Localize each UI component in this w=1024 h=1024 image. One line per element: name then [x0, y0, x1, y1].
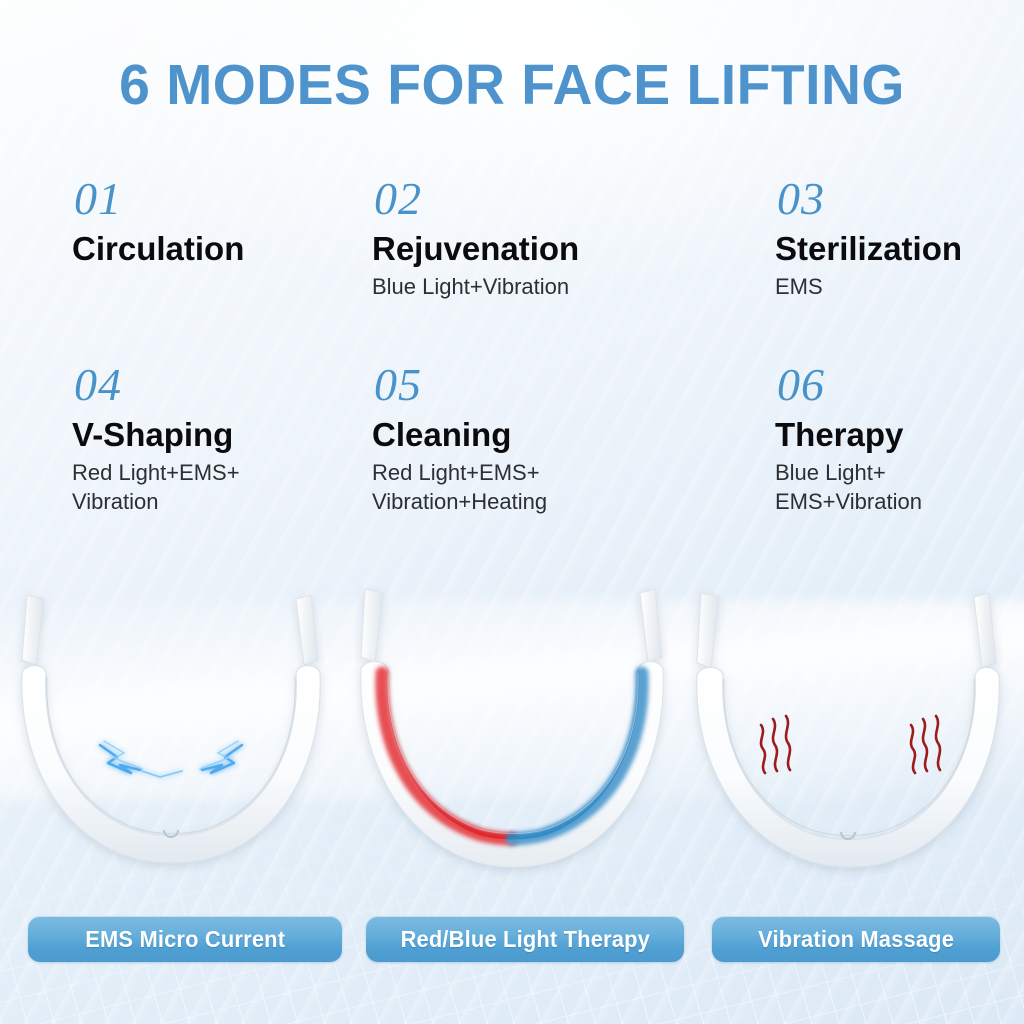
pill-red-blue-light-therapy[interactable]: Red/Blue Light Therapy	[366, 916, 684, 962]
modes-grid: 01 Circulation 02 Rejuvenation Blue Ligh…	[0, 176, 1024, 548]
mode-item-02: 02 Rejuvenation Blue Light+Vibration	[372, 176, 579, 301]
mode-subtitle-line: Blue Light+	[775, 458, 922, 487]
device-vibration-massage	[683, 585, 1024, 905]
mode-item-01: 01 Circulation	[72, 176, 244, 272]
mode-item-05: 05 Cleaning Red Light+EMS+ Vibration+Hea…	[372, 362, 547, 516]
mode-subtitle: EMS	[775, 272, 962, 301]
mode-subtitle: Blue Light+ EMS+Vibration	[775, 458, 922, 516]
pill-label: Vibration Massage	[758, 926, 954, 953]
mode-title: Sterilization	[775, 230, 962, 267]
blue-arc-effect	[100, 741, 242, 777]
mode-title: Therapy	[775, 416, 922, 453]
feature-pills: EMS Micro Current Red/Blue Light Therapy…	[0, 916, 1024, 966]
mode-number: 05	[374, 362, 547, 408]
infographic-page: 6 MODES FOR FACE LIFTING 01 Circulation …	[0, 0, 1024, 1024]
mode-subtitle-line: Red Light+EMS+	[372, 458, 547, 487]
mode-number: 03	[777, 176, 962, 222]
device-red-blue-light-therapy	[341, 585, 682, 905]
mode-item-04: 04 V-Shaping Red Light+EMS+ Vibration	[72, 362, 240, 516]
mode-title: V-Shaping	[72, 416, 240, 453]
mode-item-06: 06 Therapy Blue Light+ EMS+Vibration	[775, 362, 922, 516]
pill-vibration-massage[interactable]: Vibration Massage	[712, 916, 1000, 962]
mode-item-03: 03 Sterilization EMS	[775, 176, 962, 301]
vibration-wave-right	[911, 716, 940, 773]
red-light-strip	[382, 673, 512, 839]
pill-ems-micro-current[interactable]: EMS Micro Current	[28, 916, 342, 962]
mode-subtitle-line: Red Light+EMS+	[72, 458, 240, 487]
mode-subtitle: Red Light+EMS+ Vibration+Heating	[372, 458, 547, 516]
pill-label: EMS Micro Current	[85, 926, 285, 953]
mode-subtitle-line: Vibration	[72, 487, 240, 516]
pill-label: Red/Blue Light Therapy	[400, 926, 649, 953]
mode-number: 06	[777, 362, 922, 408]
mode-subtitle-line: Blue Light+Vibration	[372, 272, 579, 301]
mode-number: 02	[374, 176, 579, 222]
mode-title: Circulation	[72, 230, 244, 267]
page-title: 6 MODES FOR FACE LIFTING	[15, 52, 1008, 118]
mode-number: 04	[74, 362, 240, 408]
mode-subtitle-line: EMS	[775, 272, 962, 301]
device-images	[0, 585, 1024, 905]
vibration-wave-left	[761, 716, 790, 773]
mode-subtitle-line: Vibration+Heating	[372, 487, 547, 516]
modes-row-1: 01 Circulation 02 Rejuvenation Blue Ligh…	[0, 176, 1024, 362]
mode-subtitle: Blue Light+Vibration	[372, 272, 579, 301]
mode-title: Cleaning	[372, 416, 547, 453]
mode-subtitle: Red Light+EMS+ Vibration	[72, 458, 240, 516]
mode-number: 01	[74, 176, 244, 222]
mode-title: Rejuvenation	[372, 230, 579, 267]
device-ems-micro-current	[0, 585, 341, 905]
modes-row-2: 04 V-Shaping Red Light+EMS+ Vibration 05…	[0, 362, 1024, 548]
mode-subtitle-line: EMS+Vibration	[775, 487, 922, 516]
